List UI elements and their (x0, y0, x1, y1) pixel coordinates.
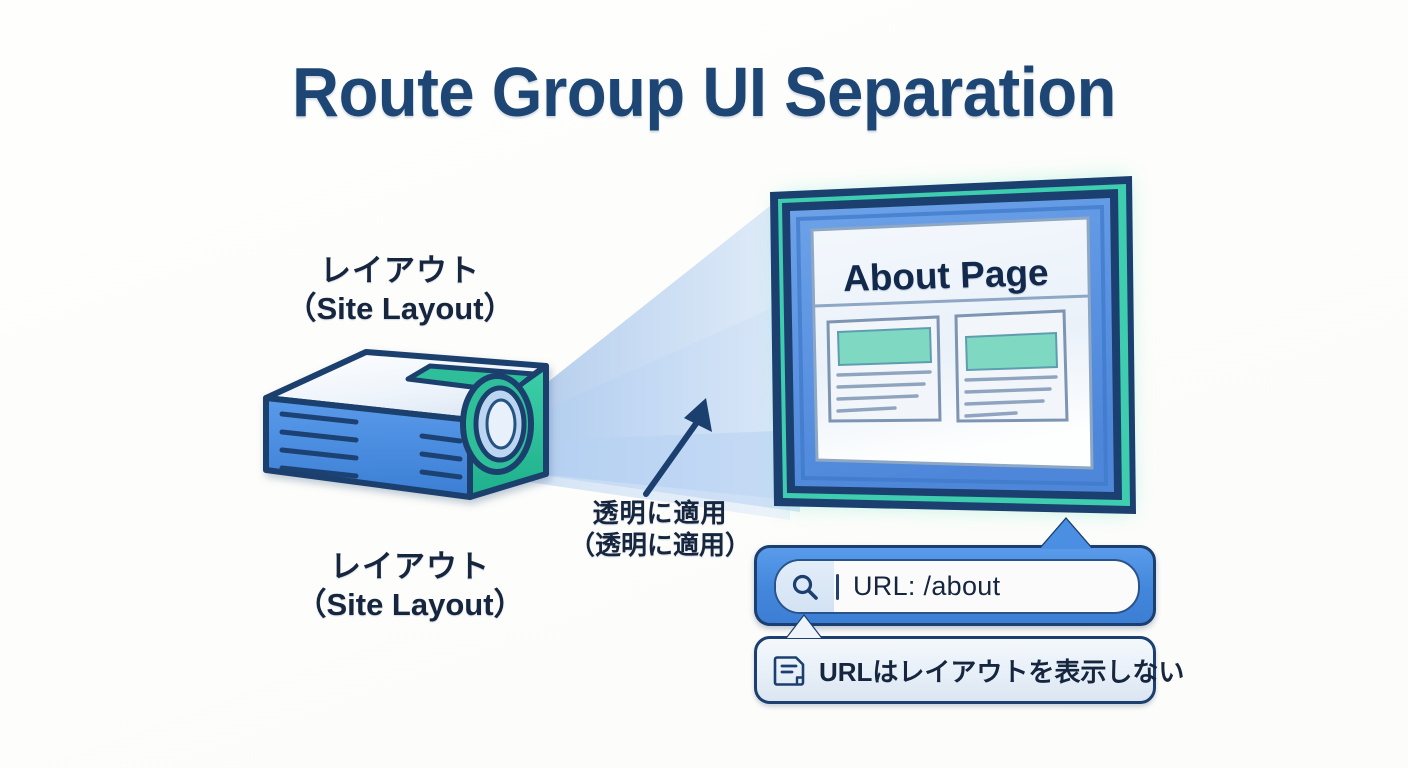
label-line-1: 透明に適用 (490, 498, 830, 530)
url-bar-pointer (1040, 519, 1092, 549)
search-icon[interactable] (776, 561, 834, 612)
note-text: URLはレイアウトを表示しない (819, 652, 1184, 689)
diagram-illustration (0, 0, 1408, 768)
text-cursor-icon (836, 574, 839, 600)
content-card (956, 311, 1067, 421)
projection-screen (770, 176, 1136, 514)
screen-page-title: About Page (842, 252, 1049, 300)
label-site-layout-top: レイアウト （Site Layout） (190, 252, 610, 328)
note-callout: URLはレイアウトを表示しない (754, 636, 1156, 704)
projector-lens (463, 376, 531, 472)
label-line-1: レイアウト (190, 252, 610, 290)
note-document-icon (773, 653, 807, 687)
projector-icon (266, 352, 546, 497)
note-callout-pointer (787, 616, 821, 638)
url-value: URL: /about (853, 571, 1000, 602)
diagram-canvas: Route Group UI Separation (0, 0, 1408, 768)
label-line-2: （Site Layout） (190, 290, 610, 328)
url-bar[interactable]: URL: /about (754, 545, 1156, 626)
label-line-2: （Site Layout） (200, 586, 620, 624)
url-input-field[interactable]: URL: /about (774, 559, 1140, 614)
content-card (828, 317, 940, 421)
